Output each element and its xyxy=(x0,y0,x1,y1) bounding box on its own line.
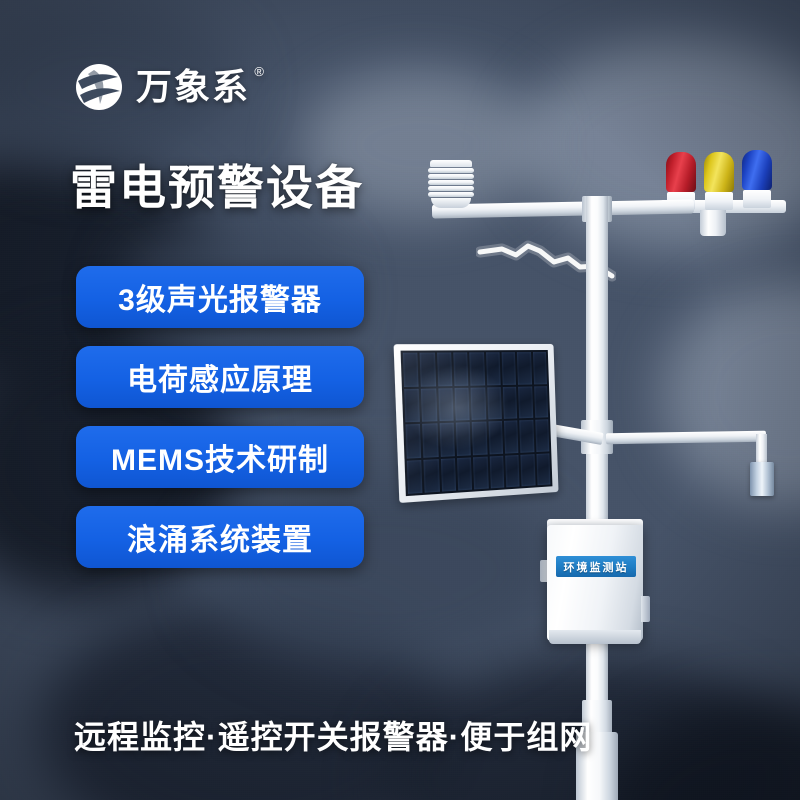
solar-cell xyxy=(441,458,457,492)
registered-mark: ® xyxy=(254,65,266,78)
solar-cell xyxy=(453,352,468,385)
solar-cell xyxy=(471,387,486,420)
solar-cell xyxy=(456,422,471,455)
solar-cell xyxy=(438,388,454,421)
swirl-globe-icon xyxy=(74,62,124,112)
solar-cell xyxy=(470,352,485,385)
solar-panel-cell-grid xyxy=(401,350,553,496)
solar-cell xyxy=(521,454,535,487)
control-box-bracket-right xyxy=(641,596,650,622)
solar-cell xyxy=(518,386,533,418)
solar-cell xyxy=(403,353,419,387)
solar-cell xyxy=(407,459,423,493)
solar-cell xyxy=(421,388,437,422)
brand-name-wrap: 万象系 ® xyxy=(136,69,250,105)
feature-pill[interactable]: MEMS技术研制 xyxy=(76,426,364,488)
feature-pill-list: 3级声光报警器电荷感应原理MEMS技术研制浪涌系统装置 xyxy=(76,266,364,568)
solar-cell xyxy=(473,456,488,489)
solar-cell xyxy=(488,421,503,454)
yellow-beacon-lens xyxy=(704,152,734,192)
red-beacon-lens xyxy=(666,152,696,192)
feature-pill[interactable]: 3级声光报警器 xyxy=(76,266,364,328)
brand-logo: 万象系 ® xyxy=(74,62,250,112)
blue-beacon-lens xyxy=(742,150,772,190)
solar-cell xyxy=(455,387,470,420)
solar-cell xyxy=(457,457,472,491)
solar-cell xyxy=(536,453,550,485)
solar-cell xyxy=(439,423,455,457)
solar-cell xyxy=(486,352,501,385)
yellow-beacon xyxy=(704,152,734,210)
solar-panel xyxy=(394,344,559,503)
control-box xyxy=(547,525,643,641)
solar-cell xyxy=(503,386,518,419)
solar-cell xyxy=(517,352,532,384)
solar-cell xyxy=(437,353,453,386)
solar-cell xyxy=(505,454,520,487)
solar-cell xyxy=(404,388,420,422)
cylindrical-sensor xyxy=(750,462,774,496)
solar-cell xyxy=(520,420,534,452)
shield-bowl xyxy=(431,198,471,208)
solar-cell xyxy=(504,420,519,453)
feature-pill[interactable]: 电荷感应原理 xyxy=(76,346,364,408)
page-title: 雷电预警设备 xyxy=(70,164,364,211)
solar-cell xyxy=(420,353,436,387)
beacon-mount-stem xyxy=(700,210,726,236)
solar-cell xyxy=(534,386,548,418)
blue-beacon xyxy=(742,150,772,208)
brand-name: 万象系 xyxy=(136,66,250,107)
blue-beacon-base xyxy=(743,190,771,208)
solar-cell xyxy=(533,352,547,384)
solar-cell xyxy=(422,423,438,457)
solar-cell xyxy=(472,422,487,455)
radiation-shield-sensor xyxy=(426,160,476,206)
shield-cap xyxy=(430,160,472,167)
solar-cell xyxy=(487,387,502,420)
control-box-label: 环境监测站 xyxy=(556,556,636,577)
solar-cell xyxy=(535,419,549,451)
solar-cell xyxy=(424,459,440,493)
feature-pill[interactable]: 浪涌系统装置 xyxy=(76,506,364,568)
solar-cell xyxy=(502,352,517,384)
solar-cell xyxy=(405,424,421,458)
right-sensor-arm xyxy=(606,431,766,445)
promo-banner: 环境监测站 万象系 ® 雷电预警设备 3级声光报警器电荷感应原理MEMS技术研制… xyxy=(0,0,800,800)
yellow-beacon-base xyxy=(705,192,733,210)
control-box-bottom xyxy=(549,630,641,644)
solar-cell xyxy=(489,455,504,488)
tagline: 远程监控·遥控开关报警器·便于组网 xyxy=(74,712,592,758)
